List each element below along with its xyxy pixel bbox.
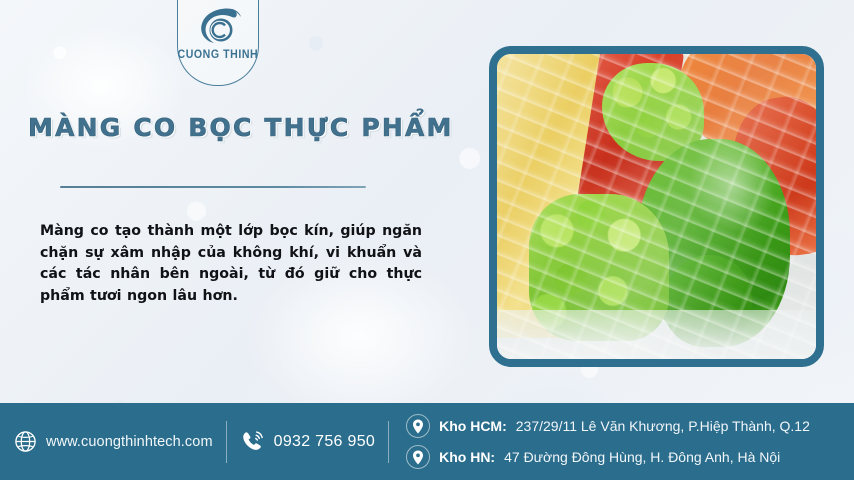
address-row-hn: Kho HN: 47 Đường Đông Hùng, H. Đông Anh,… [406,445,810,469]
product-photo-frame [489,46,824,367]
address-row-hcm: Kho HCM: 237/29/11 Lê Văn Khương, P.Hiệp… [406,414,810,438]
phone-ringing-icon [240,429,265,454]
title-divider [60,186,366,188]
address-label-hcm: Kho HCM: [439,418,507,434]
location-pin-icon [406,445,430,469]
photo-gloss-overlay [497,54,816,359]
globe-icon [14,430,37,453]
location-pin-icon [406,414,430,438]
footer-divider-2 [388,421,389,463]
promotional-poster: CUONG THINH MÀNG CO BỌC THỰC PHẨM Màng c… [0,0,854,480]
address-group: Kho HCM: 237/29/11 Lê Văn Khương, P.Hiệp… [402,414,810,469]
website-url[interactable]: www.cuongthinhtech.com [46,434,213,450]
website-group[interactable]: www.cuongthinhtech.com [0,430,213,453]
brand-name: CUONG THINH [178,49,259,61]
address-value-hn: 47 Đường Đông Hùng, H. Đông Anh, Hà Nội [504,449,780,465]
contact-footer: www.cuongthinhtech.com 0932 756 950 [0,403,854,480]
address-label-hn: Kho HN: [439,449,495,465]
description-text: Màng co tạo thành một lớp bọc kín, giúp … [40,221,422,307]
address-value-hcm: 237/29/11 Lê Văn Khương, P.Hiệp Thành, Q… [516,418,810,434]
product-photo [497,54,816,359]
footer-divider-1 [226,421,227,463]
phone-group[interactable]: 0932 756 950 [240,429,375,454]
cuong-thinh-swoosh-c-logo [192,5,244,47]
page-title: MÀNG CO BỌC THỰC PHẨM [28,113,428,142]
phone-number[interactable]: 0932 756 950 [274,433,375,451]
brand-logo-badge: CUONG THINH [177,0,259,86]
